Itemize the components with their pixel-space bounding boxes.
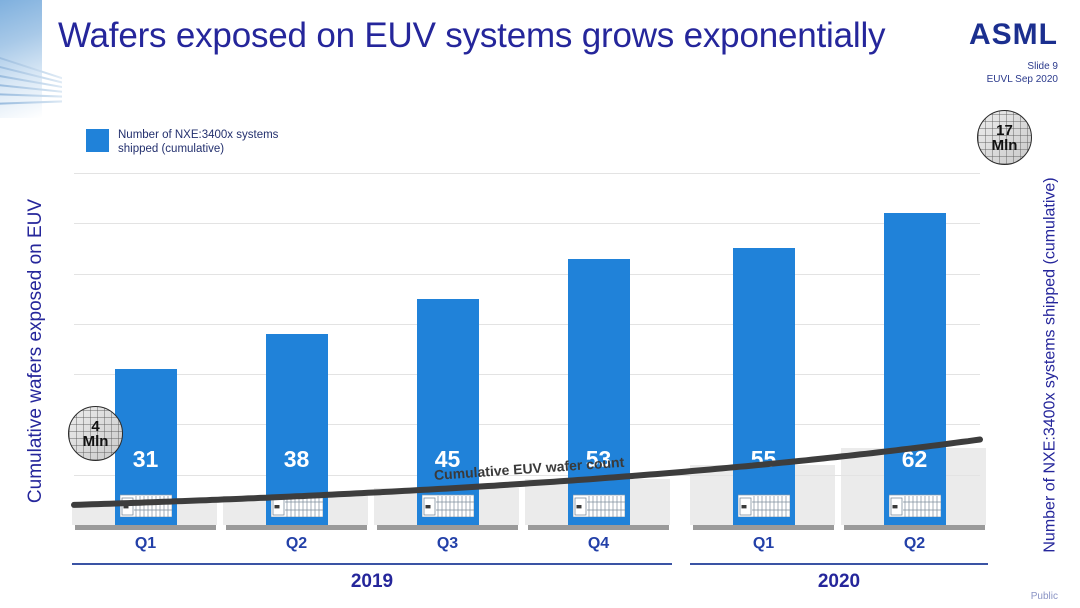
axis-baseline-segment — [226, 525, 367, 530]
start-value-bubble: 4 Mln — [68, 406, 123, 461]
legend-label-systems: Number of NXE:3400x systems shipped (cum… — [118, 128, 278, 156]
y-axis-title-left-text: Cumulative wafers exposed on EUV — [25, 199, 47, 503]
chart-plot-area: 313845535562 Cumulative EUV wafer count — [74, 163, 980, 525]
y-axis-title-left: Cumulative wafers exposed on EUV — [22, 176, 50, 526]
axis-baseline-segment — [75, 525, 216, 530]
axis-baseline-segment — [377, 525, 518, 530]
legend-swatch-systems — [86, 129, 109, 152]
axis-baseline-segment — [528, 525, 669, 530]
x-axis-label-q2-5: Q2 — [875, 535, 955, 553]
slide-root: Wafers exposed on EUV systems grows expo… — [0, 0, 1080, 608]
x-axis-label-q4-3: Q4 — [559, 535, 639, 553]
x-axis-label-q3-2: Q3 — [408, 535, 488, 553]
page-title: Wafers exposed on EUV systems grows expo… — [58, 14, 938, 58]
slide-number: Slide 9 — [987, 60, 1058, 73]
chart-legend: Number of NXE:3400x systems shipped (cum… — [86, 128, 278, 156]
year-rule-2019 — [72, 563, 672, 565]
asml-logo: ASML — [969, 18, 1058, 52]
end-bubble-unit: Mln — [992, 138, 1018, 153]
end-bubble-value: 17 — [996, 123, 1013, 138]
end-value-bubble: 17 Mln — [977, 110, 1032, 165]
x-axis-label-q1-4: Q1 — [724, 535, 804, 553]
classification-label: Public — [1031, 591, 1058, 602]
axis-baseline-stub — [958, 525, 984, 530]
decorative-corner-rays — [0, 0, 62, 118]
start-bubble-unit: Mln — [83, 434, 109, 449]
year-rule-2020 — [690, 563, 988, 565]
year-label-2020: 2020 — [779, 571, 899, 593]
year-label-2019: 2019 — [312, 571, 432, 593]
y-axis-title-right: Number of NXE:3400x systems shipped (cum… — [1028, 200, 1074, 530]
y-axis-title-right-text: Number of NXE:3400x systems shipped (cum… — [1041, 177, 1061, 552]
x-axis-label-q1-0: Q1 — [106, 535, 186, 553]
event-label: EUVL Sep 2020 — [987, 73, 1058, 86]
x-axis-label-q2-1: Q2 — [257, 535, 337, 553]
axis-baseline-segment — [693, 525, 834, 530]
start-bubble-value: 4 — [91, 419, 99, 434]
slide-info: Slide 9 EUVL Sep 2020 — [987, 60, 1058, 86]
